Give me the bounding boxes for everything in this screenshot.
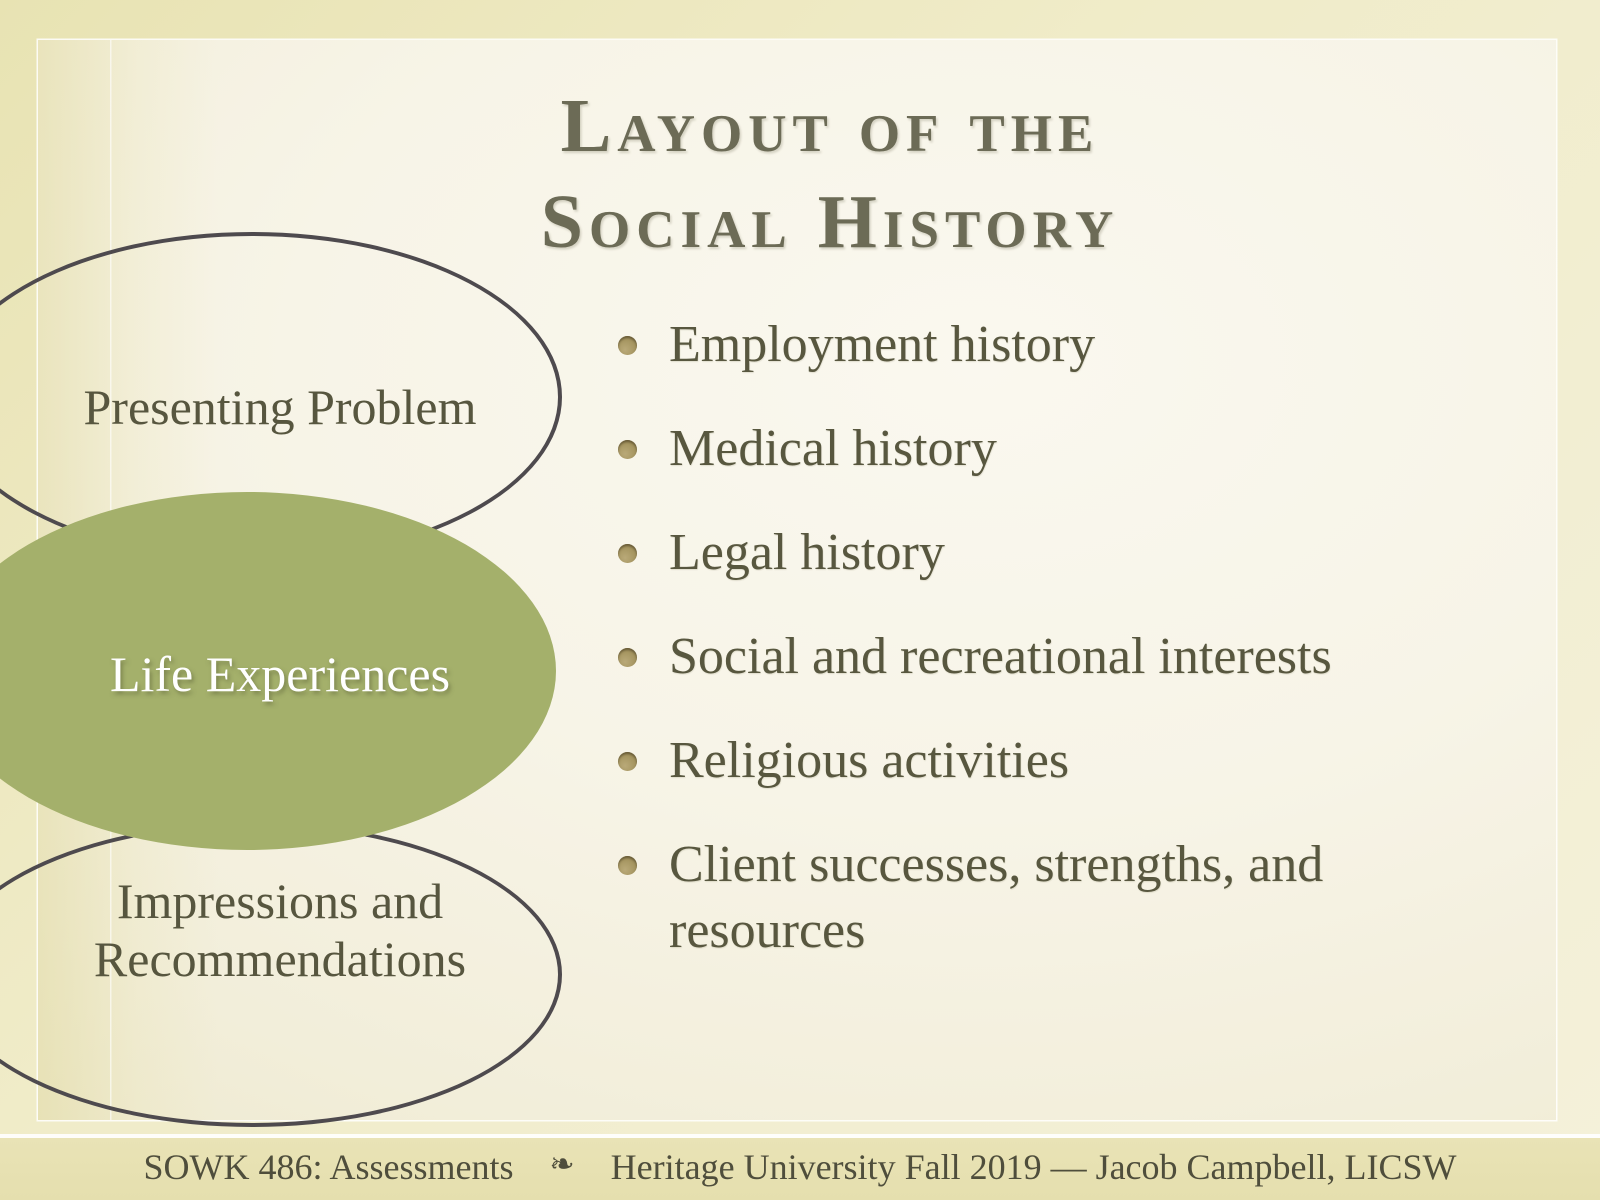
list-item-label: Employment history bbox=[669, 312, 1518, 378]
bullet-dot-icon bbox=[618, 752, 637, 771]
bullet-dot-icon bbox=[618, 648, 637, 667]
list-item: Medical history bbox=[618, 416, 1518, 482]
ellipse-label-presenting-problem: Presenting Problem bbox=[10, 378, 550, 436]
bullet-dot-icon bbox=[618, 440, 637, 459]
list-item: Legal history bbox=[618, 520, 1518, 586]
bullet-dot-icon bbox=[618, 856, 637, 875]
page-title-line-2: Social History bbox=[330, 174, 1330, 270]
ellipse-label-impressions-recommendations: Impressions and Recommendations bbox=[0, 872, 560, 988]
list-item: Employment history bbox=[618, 312, 1518, 378]
bullet-dot-icon bbox=[618, 336, 637, 355]
presentation-slide: Layout of the Social History Presenting … bbox=[0, 0, 1600, 1200]
fleuron-ornament-icon: ❧ bbox=[550, 1150, 575, 1180]
ellipse-label-life-experiences: Life Experiences bbox=[10, 645, 550, 703]
list-item: Religious activities bbox=[618, 728, 1518, 794]
content-bullet-list: Employment history Medical history Legal… bbox=[618, 312, 1518, 964]
list-item: Social and recreational interests bbox=[618, 624, 1518, 690]
slide-footer: SOWK 486: Assessments ❧ Heritage Univers… bbox=[0, 1134, 1600, 1200]
footer-attribution-label: Heritage University Fall 2019 — Jacob Ca… bbox=[611, 1147, 1457, 1187]
list-item-label: Medical history bbox=[669, 416, 1518, 482]
list-item-label: Client successes, strengths, and resourc… bbox=[669, 832, 1518, 964]
bullet-dot-icon bbox=[618, 544, 637, 563]
page-title: Layout of the Social History bbox=[330, 78, 1330, 270]
page-title-line-1: Layout of the bbox=[330, 78, 1330, 174]
list-item-label: Social and recreational interests bbox=[669, 624, 1518, 690]
list-item: Client successes, strengths, and resourc… bbox=[618, 832, 1518, 964]
list-item-label: Legal history bbox=[669, 520, 1518, 586]
list-item-label: Religious activities bbox=[669, 728, 1518, 794]
footer-course-label: SOWK 486: Assessments bbox=[143, 1147, 513, 1187]
